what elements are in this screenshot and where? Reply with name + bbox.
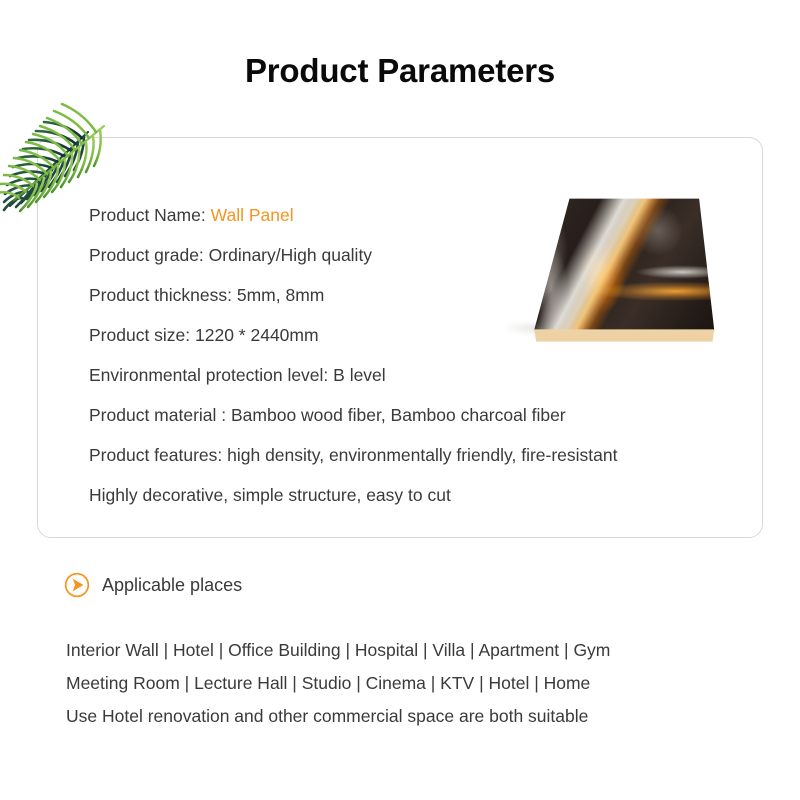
spec-row-product-grade: Product grade: Ordinary/High quality <box>89 235 689 275</box>
spec-value-accent: Wall Panel <box>211 205 294 225</box>
applicable-places-list: Interior Wall | Hotel | Office Building … <box>66 634 766 733</box>
spec-row-environmental-level: Environmental protection level: B level <box>89 355 689 395</box>
applicable-heading-row: Applicable places <box>64 572 242 598</box>
page-title: Product Parameters <box>0 52 800 90</box>
applicable-places-section: Applicable places <box>64 572 242 598</box>
arrow-right-circle-icon <box>64 572 90 598</box>
spec-label: Product Name: <box>89 205 206 225</box>
product-parameters-page: Product Parameters Product Name: Wall Pa… <box>0 0 800 800</box>
spec-list: Product Name: Wall Panel Product grade: … <box>89 195 689 515</box>
place-line: Interior Wall | Hotel | Office Building … <box>66 634 766 667</box>
applicable-heading: Applicable places <box>102 575 242 596</box>
place-line: Meeting Room | Lecture Hall | Studio | C… <box>66 667 766 700</box>
spec-row-product-features: Product features: high density, environm… <box>89 435 689 475</box>
spec-row-extra-features: Highly decorative, simple structure, eas… <box>89 475 689 515</box>
spec-row-product-size: Product size: 1220 * 2440mm <box>89 315 689 355</box>
place-line: Use Hotel renovation and other commercia… <box>66 700 766 733</box>
spec-row-product-thickness: Product thickness: 5mm, 8mm <box>89 275 689 315</box>
spec-row-product-material: Product material : Bamboo wood fiber, Ba… <box>89 395 689 435</box>
spec-row-product-name: Product Name: Wall Panel <box>89 195 689 235</box>
